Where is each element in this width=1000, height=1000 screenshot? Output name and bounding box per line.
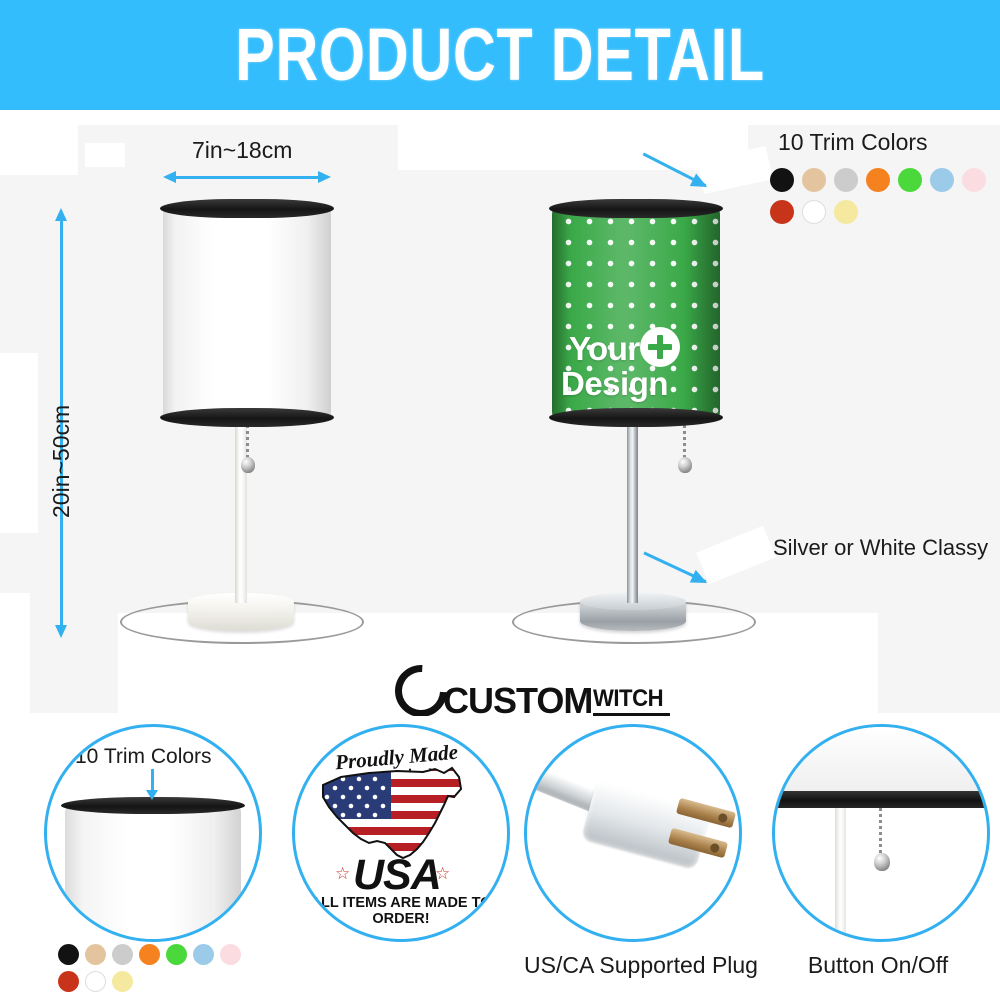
swatch-orange[interactable] xyxy=(139,944,160,965)
shade-trim-top xyxy=(549,199,723,218)
star-right-icon: ☆ xyxy=(435,864,450,884)
trim-color-swatches xyxy=(770,168,1000,224)
usa-subtitle-text: ALL ITEMS ARE MADE TO ORDER! xyxy=(305,895,497,927)
pull-chain-ball[interactable] xyxy=(874,853,890,871)
swatch-tan[interactable] xyxy=(802,168,826,192)
pull-chain-ball[interactable] xyxy=(678,457,692,473)
star-left-icon: ☆ xyxy=(335,864,350,884)
shade-surface xyxy=(163,205,331,421)
header-banner: PRODUCT DETAIL xyxy=(0,0,1000,110)
switch-caption: Button On/Off xyxy=(772,952,984,979)
shade-trim-bottom xyxy=(160,408,334,427)
shade-trim-top xyxy=(160,199,334,218)
width-dimension-label: 7in~18cm xyxy=(192,137,292,164)
swatch-tan[interactable] xyxy=(85,944,106,965)
product-detail-page: PRODUCT DETAIL 7in~18cm 20in~50cm xyxy=(0,0,1000,1000)
swatch-green[interactable] xyxy=(166,944,187,965)
page-title: PRODUCT DETAIL xyxy=(235,18,765,92)
trim-color-swatches xyxy=(58,944,258,992)
bg-patch xyxy=(398,125,748,170)
pull-chain[interactable] xyxy=(879,808,882,858)
swatch-pink[interactable] xyxy=(220,944,241,965)
trim-colors-label: 10 Trim Colors xyxy=(778,129,928,156)
swatch-light-blue[interactable] xyxy=(930,168,954,192)
swatch-yellow[interactable] xyxy=(112,971,133,992)
shade-trim-bottom xyxy=(772,791,990,808)
logo-witch-text: WITCH xyxy=(593,687,663,711)
swatch-white[interactable] xyxy=(802,200,826,224)
swatch-green[interactable] xyxy=(898,168,922,192)
lamp-shade: Your Design xyxy=(552,205,720,421)
bg-patch xyxy=(0,113,1000,125)
plug-caption: US/CA Supported Plug xyxy=(524,952,736,979)
made-in-usa-circle: Proudly Made in the xyxy=(292,724,510,942)
usa-word-text: USA xyxy=(353,851,441,900)
plus-icon xyxy=(640,327,680,367)
shade-trim-bottom xyxy=(549,408,723,427)
plug-circle xyxy=(524,724,742,942)
height-dimension-label: 20in~50cm xyxy=(48,405,75,518)
swatch-red[interactable] xyxy=(58,971,79,992)
trim-colors-arrow xyxy=(151,769,154,791)
swatch-gray[interactable] xyxy=(834,168,858,192)
trim-colors-circle: 10 Trim Colors xyxy=(44,724,262,942)
bg-patch xyxy=(0,125,78,175)
plug-housing xyxy=(581,781,711,869)
pull-chain-ball[interactable] xyxy=(241,457,255,473)
swatch-yellow[interactable] xyxy=(834,200,858,224)
width-dimension-arrow xyxy=(163,171,331,183)
lamp-pole xyxy=(835,808,846,942)
your-design-line1: Your xyxy=(569,332,640,366)
bg-patch xyxy=(85,143,125,167)
swatch-light-blue[interactable] xyxy=(193,944,214,965)
lamp-shade xyxy=(163,205,331,421)
swatch-black[interactable] xyxy=(770,168,794,192)
finish-label: Silver or White Classy xyxy=(773,535,988,561)
swatch-white[interactable] xyxy=(85,971,106,992)
logo-custom-text: CUSTOM xyxy=(443,683,592,719)
swatch-black[interactable] xyxy=(58,944,79,965)
brand-logo: CUSTOM WITCH xyxy=(395,665,670,719)
feature-row: 10 Trim Colors Proudly Made in the xyxy=(0,716,1000,1000)
your-design-line2: Design xyxy=(561,367,668,401)
switch-circle xyxy=(772,724,990,942)
swatch-pink[interactable] xyxy=(962,168,986,192)
swatch-orange[interactable] xyxy=(866,168,890,192)
swatch-gray[interactable] xyxy=(112,944,133,965)
swatch-red[interactable] xyxy=(770,200,794,224)
bg-patch xyxy=(0,353,38,533)
trim-colors-inner-label: 10 Trim Colors xyxy=(75,745,212,769)
lamp-pole xyxy=(627,413,638,603)
shade-crop xyxy=(65,805,241,942)
finish-arrow xyxy=(643,554,705,583)
shade-crop xyxy=(775,727,987,799)
product-stage: 7in~18cm 20in~50cm xyxy=(0,113,1000,713)
bg-patch xyxy=(0,593,30,713)
